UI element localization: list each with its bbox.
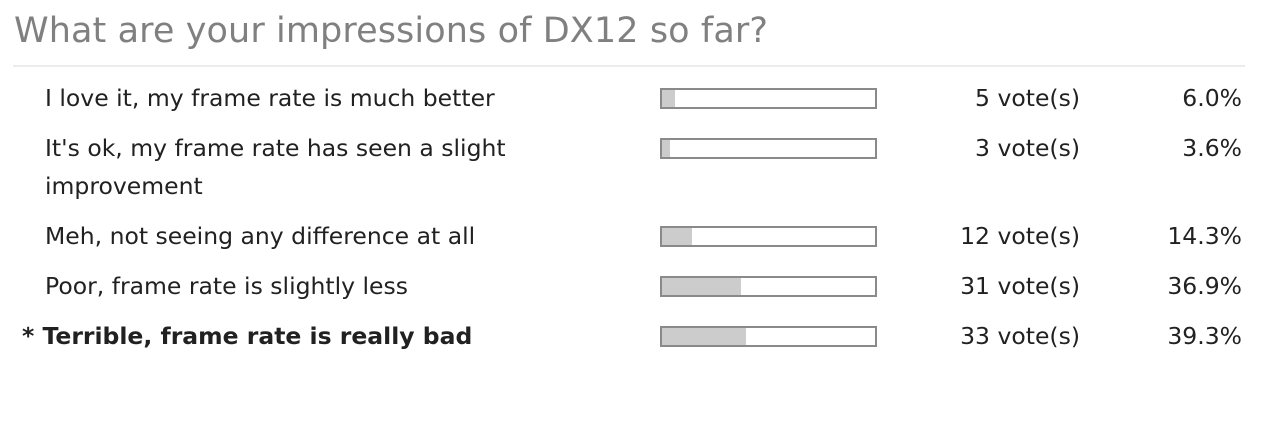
poll-option-label: I love it, my frame rate is much better [0,79,660,117]
poll-option-bar-cell [660,79,900,109]
poll-result-bar [660,226,877,247]
poll-option-bar-cell [660,267,900,297]
poll-result-bar [660,276,877,297]
poll-option-votes: 3 vote(s) [900,129,1080,167]
poll-option-percent: 39.3% [1080,317,1280,355]
poll-option-row[interactable]: * Terrible, frame rate is really bad33 v… [0,317,1280,355]
poll-option-percent: 3.6% [1080,129,1280,167]
poll-widget: What are your impressions of DX12 so far… [0,0,1280,429]
poll-result-bar-fill [662,228,692,245]
poll-result-bar [660,88,877,109]
poll-option-row[interactable]: Poor, frame rate is slightly less31 vote… [0,267,1280,305]
page-title: What are your impressions of DX12 so far… [0,0,1280,54]
poll-option-label: Meh, not seeing any difference at all [0,217,660,255]
poll-option-row[interactable]: I love it, my frame rate is much better5… [0,79,1280,117]
poll-result-bar [660,326,877,347]
poll-result-bar-fill [662,140,670,157]
poll-option-bar-cell [660,129,900,159]
poll-option-label: Poor, frame rate is slightly less [0,267,660,305]
poll-option-percent: 14.3% [1080,217,1280,255]
poll-result-bar-fill [662,278,741,295]
poll-result-bar-fill [662,90,675,107]
poll-option-label: * Terrible, frame rate is really bad [0,317,660,355]
poll-option-percent: 6.0% [1080,79,1280,117]
poll-option-label: It's ok, my frame rate has seen a slight… [0,129,660,205]
poll-result-bar-fill [662,328,746,345]
poll-option-votes: 5 vote(s) [900,79,1080,117]
poll-option-votes: 33 vote(s) [900,317,1080,355]
poll-option-votes: 12 vote(s) [900,217,1080,255]
poll-option-bar-cell [660,217,900,247]
poll-option-bar-cell [660,317,900,347]
poll-option-votes: 31 vote(s) [900,267,1080,305]
poll-result-bar [660,138,877,159]
poll-option-percent: 36.9% [1080,267,1280,305]
poll-option-row[interactable]: It's ok, my frame rate has seen a slight… [0,129,1280,205]
poll-options-list: I love it, my frame rate is much better5… [0,67,1280,355]
poll-option-row[interactable]: Meh, not seeing any difference at all12 … [0,217,1280,255]
